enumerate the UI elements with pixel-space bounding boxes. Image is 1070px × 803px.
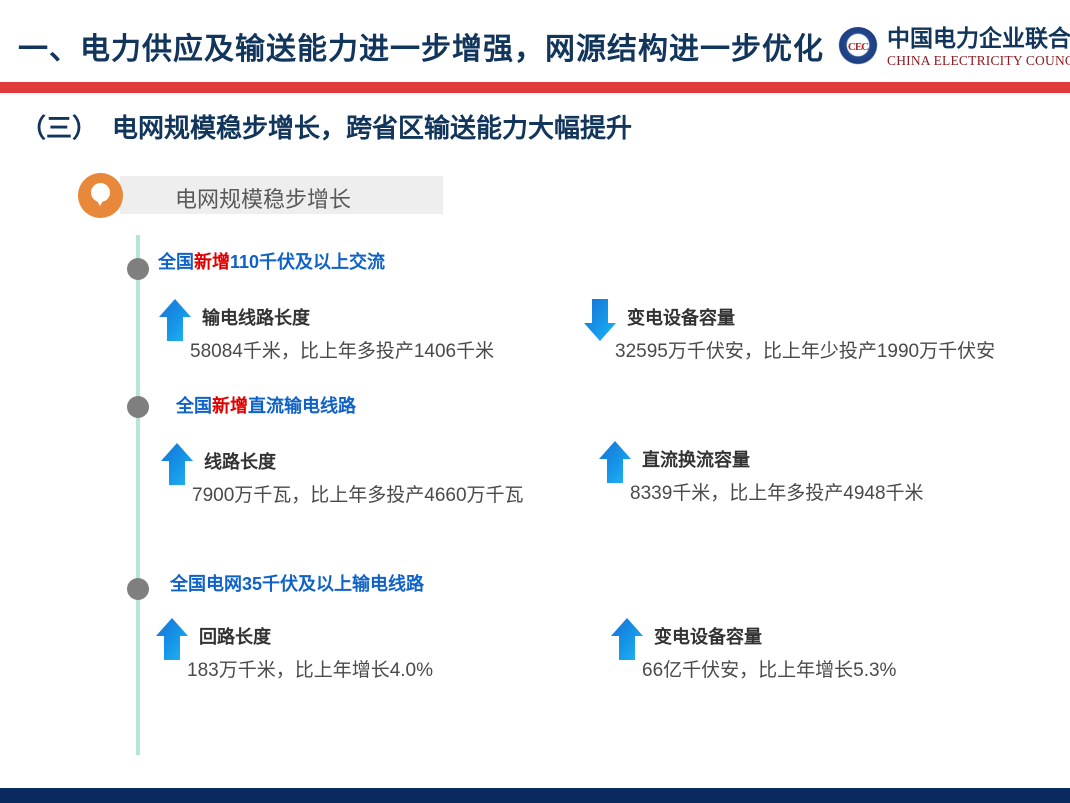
- arrow-up-icon: [598, 440, 632, 484]
- header-divider-rule: [0, 82, 1070, 93]
- logo-name-english: CHINA ELECTRICITY COUNCIL: [887, 53, 1070, 70]
- timeline-track: [136, 235, 140, 755]
- metric-title: 线路长度: [204, 448, 276, 474]
- group-heading-2: 全国新增直流输电线路: [176, 392, 356, 418]
- group-heading-prefix: 全国: [158, 252, 194, 272]
- arrow-up-icon: [610, 617, 644, 661]
- section-subtitle: （三）电网规模稳步增长，跨省区输送能力大幅提升: [20, 108, 632, 145]
- timeline-dot-3: [127, 578, 149, 600]
- metric-value: 32595万千伏安，比上年少投产1990万千伏安: [615, 336, 995, 363]
- footer-bar: [0, 788, 1070, 803]
- organization-logo: 中国电力企业联合会 CHINA ELECTRICITY COUNCIL: [838, 26, 1060, 80]
- metric-value: 66亿千伏安，比上年增长5.3%: [642, 655, 896, 682]
- metric-title: 回路长度: [199, 623, 271, 649]
- group-heading-highlight: 新增: [212, 396, 248, 416]
- page-title: 一、电力供应及输送能力进一步增强，网源结构进一步优化: [18, 24, 824, 68]
- logo-text: 中国电力企业联合会 CHINA ELECTRICITY COUNCIL: [887, 26, 1070, 70]
- cec-emblem-icon: [838, 27, 878, 67]
- speech-bubble-inner: [91, 183, 110, 202]
- group-heading-prefix: 全国: [176, 396, 212, 416]
- group-heading-suffix: 110千伏及以上交流: [230, 252, 385, 272]
- timeline-dot-2: [127, 396, 149, 418]
- metric-title: 变电设备容量: [627, 304, 735, 330]
- group-heading-prefix: 全国电网35千伏及以上输电线路: [170, 574, 424, 594]
- logo-name-chinese: 中国电力企业联合会: [887, 26, 1070, 51]
- metric-value: 7900万千瓦，比上年多投产4660万千瓦: [192, 480, 524, 507]
- speech-bubble-icon: [78, 173, 123, 218]
- section-banner-label: 电网规模稳步增长: [175, 182, 351, 214]
- section-banner: 电网规模稳步增长: [120, 176, 443, 214]
- metric-value: 58084千米，比上年多投产1406千米: [190, 336, 494, 363]
- metric-value: 183万千米，比上年增长4.0%: [187, 655, 433, 682]
- group-heading-highlight: 新增: [194, 252, 230, 272]
- metric-title: 变电设备容量: [654, 623, 762, 649]
- arrow-up-icon: [155, 617, 189, 661]
- arrow-up-icon: [158, 298, 192, 342]
- metric-value: 8339千米，比上年多投产4948千米: [630, 478, 924, 505]
- subtitle-text: 电网规模稳步增长，跨省区输送能力大幅提升: [112, 113, 632, 143]
- arrow-up-icon: [160, 442, 194, 486]
- group-heading-suffix: 直流输电线路: [248, 396, 356, 416]
- subtitle-number: （三）: [20, 113, 98, 143]
- group-heading-1: 全国新增110千伏及以上交流: [158, 248, 385, 274]
- timeline-dot-1: [127, 258, 149, 280]
- metric-title: 输电线路长度: [202, 304, 310, 330]
- group-heading-3: 全国电网35千伏及以上输电线路: [170, 570, 424, 596]
- arrow-down-icon: [583, 298, 617, 342]
- metric-title: 直流换流容量: [642, 446, 750, 472]
